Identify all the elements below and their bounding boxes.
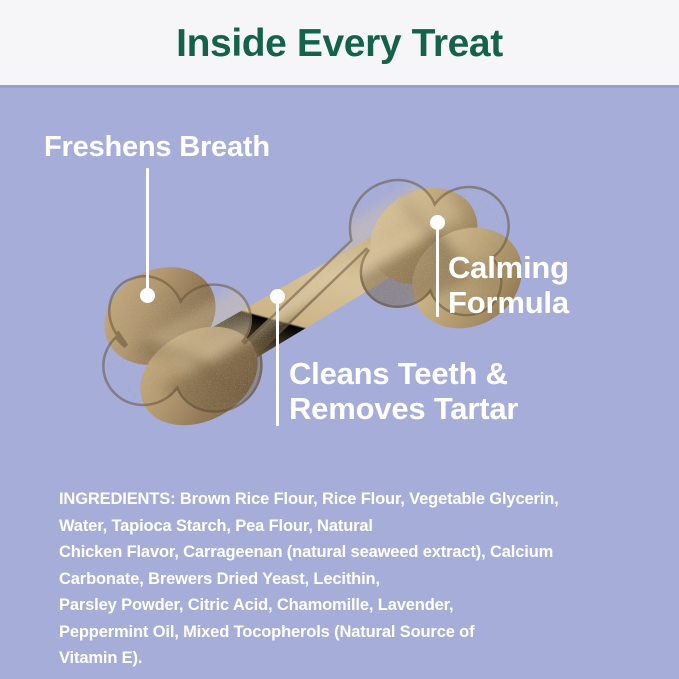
leader-line-freshens-breath xyxy=(146,168,149,296)
ingredients-text: INGREDIENTS: Brown Rice Flour, Rice Flou… xyxy=(59,486,599,672)
leader-dot-cleans-teeth xyxy=(270,289,285,304)
page-title: Inside Every Treat xyxy=(0,0,679,85)
leader-dot-calming-formula xyxy=(430,215,445,230)
leader-line-cleans-teeth xyxy=(276,296,279,426)
callout-calming-formula: Calming Formula xyxy=(448,251,569,320)
leader-dot-freshens-breath xyxy=(140,288,155,303)
infographic-panel: Inside Every Treat xyxy=(0,0,679,679)
callout-cleans-teeth: Cleans Teeth & Removes Tartar xyxy=(289,357,518,426)
callout-freshens-breath: Freshens Breath xyxy=(44,131,270,163)
leader-line-calming-formula xyxy=(436,222,439,317)
